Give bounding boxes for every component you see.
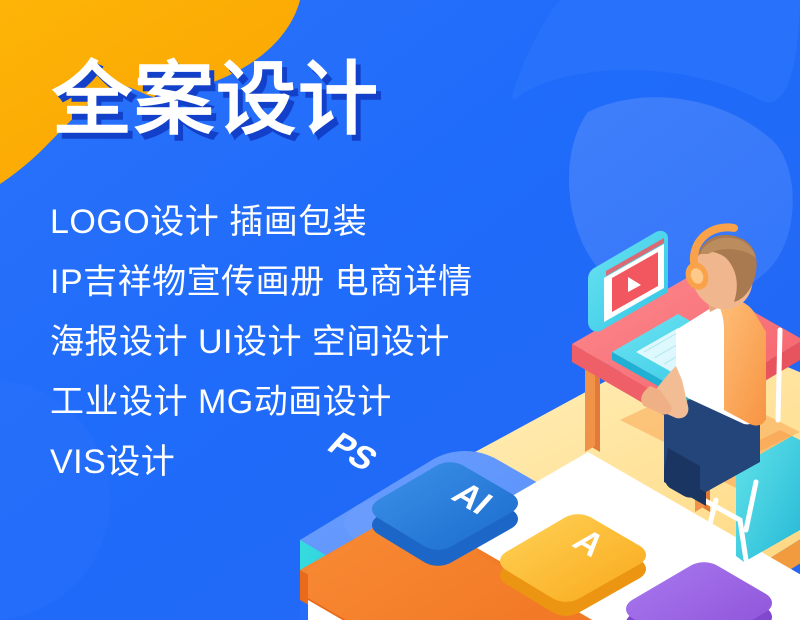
page-title: 全案设计 — [52, 58, 380, 141]
service-line: 海报设计 UI设计 空间设计 — [50, 312, 650, 372]
service-line: LOGO设计 插画包装 — [50, 192, 650, 252]
service-line: VIS设计 — [50, 432, 650, 492]
design-service-banner: PS AI A 全案设计 LOGO设计 插画包装 IP吉祥物宣传画册 电商详情 … — [0, 0, 800, 620]
service-list: LOGO设计 插画包装 IP吉祥物宣传画册 电商详情 海报设计 UI设计 空间设… — [50, 192, 650, 492]
service-line: 工业设计 MG动画设计 — [50, 372, 650, 432]
service-line: IP吉祥物宣传画册 电商详情 — [50, 252, 650, 312]
